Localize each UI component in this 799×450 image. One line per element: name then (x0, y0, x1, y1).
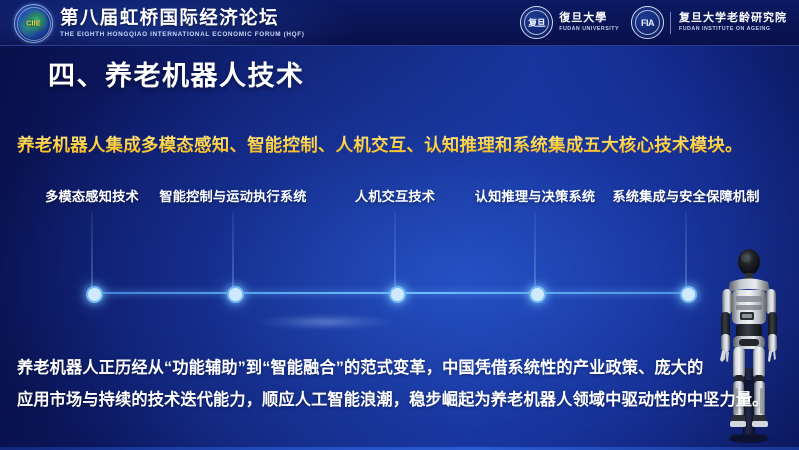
fudan-university-logo: 复旦 復旦大學 FUDAN UNIVERSITY (520, 6, 619, 39)
timeline-dot-2[interactable] (227, 286, 244, 303)
timeline-dot-1[interactable] (86, 286, 103, 303)
highlight-statement: 养老机器人集成多模态感知、智能控制、人机交互、认知推理和系统集成五大核心技术模块… (17, 132, 783, 157)
presentation-slide: CIIE 第八届虹桥国际经济论坛 THE EIGHTH HONGQIAO INT… (0, 0, 799, 450)
timeline-stem-2 (233, 212, 234, 293)
summary-line-1: 养老机器人正历经从“功能辅助”到“智能融合”的范式变革，中国凭借系统性的产业政策… (17, 352, 717, 384)
fudan-university-text-group: 復旦大學 FUDAN UNIVERSITY (559, 13, 619, 32)
fudan-seal-text: 复旦 (528, 16, 545, 29)
ciie-globe-icon: CIIE (14, 4, 53, 43)
technology-modules-timeline: 多模态感知技术 智能控制与运动执行系统 人机交互技术 认知推理与决策系统 系统集… (0, 186, 799, 311)
timeline-dot-3[interactable] (389, 286, 406, 303)
timeline-dot-4[interactable] (529, 286, 546, 303)
forum-title-cn: 第八届虹桥国际经济论坛 (60, 9, 304, 28)
page-title: 四、养老机器人技术 (48, 54, 305, 93)
timeline-label-1: 多模态感知技术 (45, 186, 139, 205)
summary-line-2: 应用市场与持续的技术迭代能力，顺应人工智能浪潮，稳步崛起为养老机器人领域中驱动性… (17, 384, 717, 416)
fudan-institute-seal-icon: FIA (631, 6, 664, 39)
fia-seal-text: FIA (641, 18, 654, 28)
fudan-institute-name-en: FUDAN INSTITUTE ON AGEING (679, 27, 787, 32)
fudan-institute-name-cn: 复旦大学老龄研究院 (679, 13, 787, 24)
forum-title-en: THE EIGHTH HONGQIAO INTERNATIONAL ECONOM… (60, 32, 304, 38)
floor-glow-decoration (258, 314, 393, 330)
fudan-university-seal-icon: 复旦 (520, 6, 553, 39)
timeline-label-5: 系统集成与安全保障机制 (612, 186, 759, 205)
slide-header-bar: CIIE 第八届虹桥国际经济论坛 THE EIGHTH HONGQIAO INT… (0, 0, 799, 46)
ciie-logo-text: CIIE (15, 20, 52, 27)
timeline-stem-5 (686, 212, 687, 293)
timeline-label-2: 智能控制与运动执行系统 (159, 186, 306, 205)
fudan-institute-text-group: 复旦大学老龄研究院 FUDAN INSTITUTE ON AGEING (679, 13, 787, 32)
timeline-label-4: 认知推理与决策系统 (475, 186, 596, 205)
timeline-stem-3 (395, 212, 396, 293)
timeline-label-3: 人机交互技术 (355, 186, 435, 205)
fudan-university-name-cn: 復旦大學 (559, 13, 619, 24)
timeline-dot-5[interactable] (680, 286, 697, 303)
timeline-stem-1 (92, 212, 93, 293)
humanoid-robot-image (703, 248, 795, 446)
partner-logos: 复旦 復旦大學 FUDAN UNIVERSITY FIA 复旦大学老龄研究院 F… (520, 6, 787, 39)
summary-paragraph: 养老机器人正历经从“功能辅助”到“智能融合”的范式变革，中国凭借系统性的产业政策… (17, 352, 717, 416)
forum-branding: CIIE 第八届虹桥国际经济论坛 THE EIGHTH HONGQIAO INT… (14, 4, 304, 43)
fudan-university-name-en: FUDAN UNIVERSITY (559, 27, 619, 32)
logo-divider (670, 12, 671, 34)
timeline-stem-4 (535, 212, 536, 293)
forum-title-group: 第八届虹桥国际经济论坛 THE EIGHTH HONGQIAO INTERNAT… (60, 9, 304, 38)
fudan-institute-logo: FIA 复旦大学老龄研究院 FUDAN INSTITUTE ON AGEING (631, 6, 787, 39)
